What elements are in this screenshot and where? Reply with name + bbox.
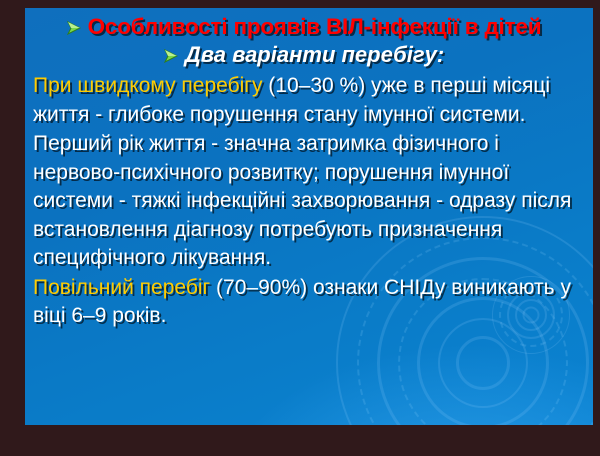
list-item: При швидкому перебігу (10–30 %) уже в пе…: [25, 72, 583, 129]
slide-frame: Особливості проявів ВІЛ-інфекції в дітей…: [0, 0, 600, 456]
list-item: Перший рік життя - значна затримка фізич…: [25, 130, 583, 273]
heading-primary-row: Особливості проявів ВІЛ-інфекції в дітей: [25, 14, 583, 40]
list-item-highlight: Повільний перебіг: [33, 276, 210, 299]
list-item-highlight: При швидкому перебігу: [33, 74, 262, 97]
list-item-rest: Перший рік життя - значна затримка фізич…: [33, 132, 571, 269]
list-item-text: При швидкому перебігу (10–30 %) уже в пе…: [33, 72, 583, 129]
page-title: Особливості проявів ВІЛ-інфекції в дітей: [88, 14, 542, 40]
list-item: Повільний перебіг (70–90%) ознаки СНІДу …: [25, 274, 583, 331]
bullet-list: При швидкому перебігу (10–30 %) уже в пе…: [25, 72, 583, 331]
list-item-text: Перший рік життя - значна затримка фізич…: [33, 130, 583, 273]
arrow-bullet-icon: [67, 21, 81, 35]
arrow-bullet-icon: [164, 49, 178, 63]
page-subtitle: Два варіанти перебігу:: [185, 42, 444, 68]
heading-secondary-row: Два варіанти перебігу:: [25, 42, 583, 68]
slide-canvas: Особливості проявів ВІЛ-інфекції в дітей…: [25, 8, 593, 425]
list-item-text: Повільний перебіг (70–90%) ознаки СНІДу …: [33, 274, 583, 331]
slide-content: Особливості проявів ВІЛ-інфекції в дітей…: [25, 8, 593, 331]
